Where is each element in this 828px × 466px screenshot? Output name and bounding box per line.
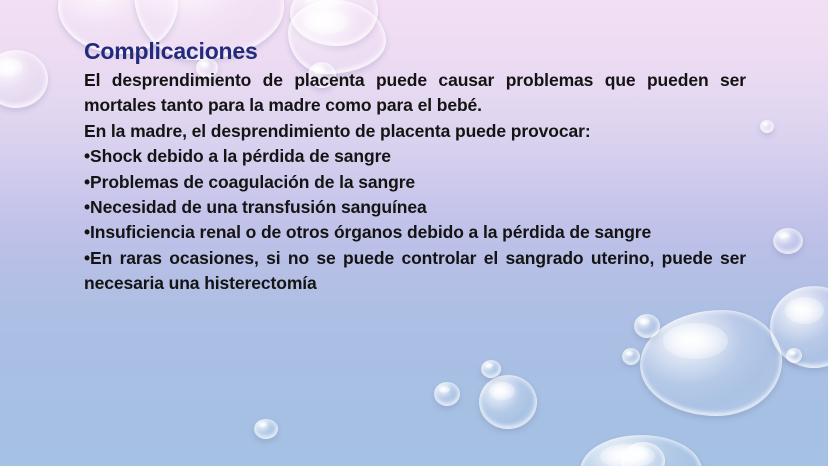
droplet-center-left-small	[434, 382, 460, 406]
droplet-center-round	[479, 375, 537, 429]
droplet-center-tiny	[481, 360, 501, 378]
droplet-right-blob-large	[640, 310, 782, 416]
slide-text-block: Complicaciones El desprendimiento de pla…	[84, 38, 746, 297]
bullet-list-item: •Necesidad de una transfusión sanguínea	[84, 195, 746, 220]
droplet-bottom-left-ring	[254, 419, 278, 439]
body-paragraph: El desprendimiento de placenta puede cau…	[84, 68, 746, 119]
paragraph-text: Shock debido a la pérdida de sangre	[90, 146, 391, 166]
paragraph-text: Problemas de coagulación de la sangre	[90, 172, 415, 192]
droplet-right-large	[770, 286, 828, 368]
droplet-mid-small-a	[634, 314, 660, 338]
paragraph-text: Necesidad de una transfusión sanguínea	[90, 197, 427, 217]
paragraph-text: En la madre, el desprendimiento de place…	[84, 121, 591, 141]
paragraph-text: En raras ocasiones, si no se puede contr…	[84, 248, 746, 293]
droplet-top-left-small	[0, 50, 48, 108]
droplet-mid-small-b	[622, 348, 640, 365]
droplet-bottom-far-right	[786, 348, 802, 363]
droplet-bottom-edge-large	[580, 435, 702, 466]
bullet-list-item: •Shock debido a la pérdida de sangre	[84, 144, 746, 169]
slide-body: El desprendimiento de placenta puede cau…	[84, 68, 746, 297]
presentation-slide: Complicaciones El desprendimiento de pla…	[0, 0, 828, 466]
droplet-upper-right-tiny	[760, 120, 774, 133]
droplet-bottom-right-ring	[621, 442, 665, 466]
bullet-list-item: •Problemas de coagulación de la sangre	[84, 170, 746, 195]
paragraph-text: El desprendimiento de placenta puede cau…	[84, 70, 746, 115]
page-title: Complicaciones	[84, 38, 746, 65]
bullet-list-item: •En raras ocasiones, si no se puede cont…	[84, 246, 746, 297]
body-paragraph: En la madre, el desprendimiento de place…	[84, 119, 746, 144]
droplet-right-ring	[773, 228, 803, 254]
bullet-list-item: •Insuficiencia renal o de otros órganos …	[84, 220, 746, 245]
paragraph-text: Insuficiencia renal o de otros órganos d…	[90, 222, 651, 242]
